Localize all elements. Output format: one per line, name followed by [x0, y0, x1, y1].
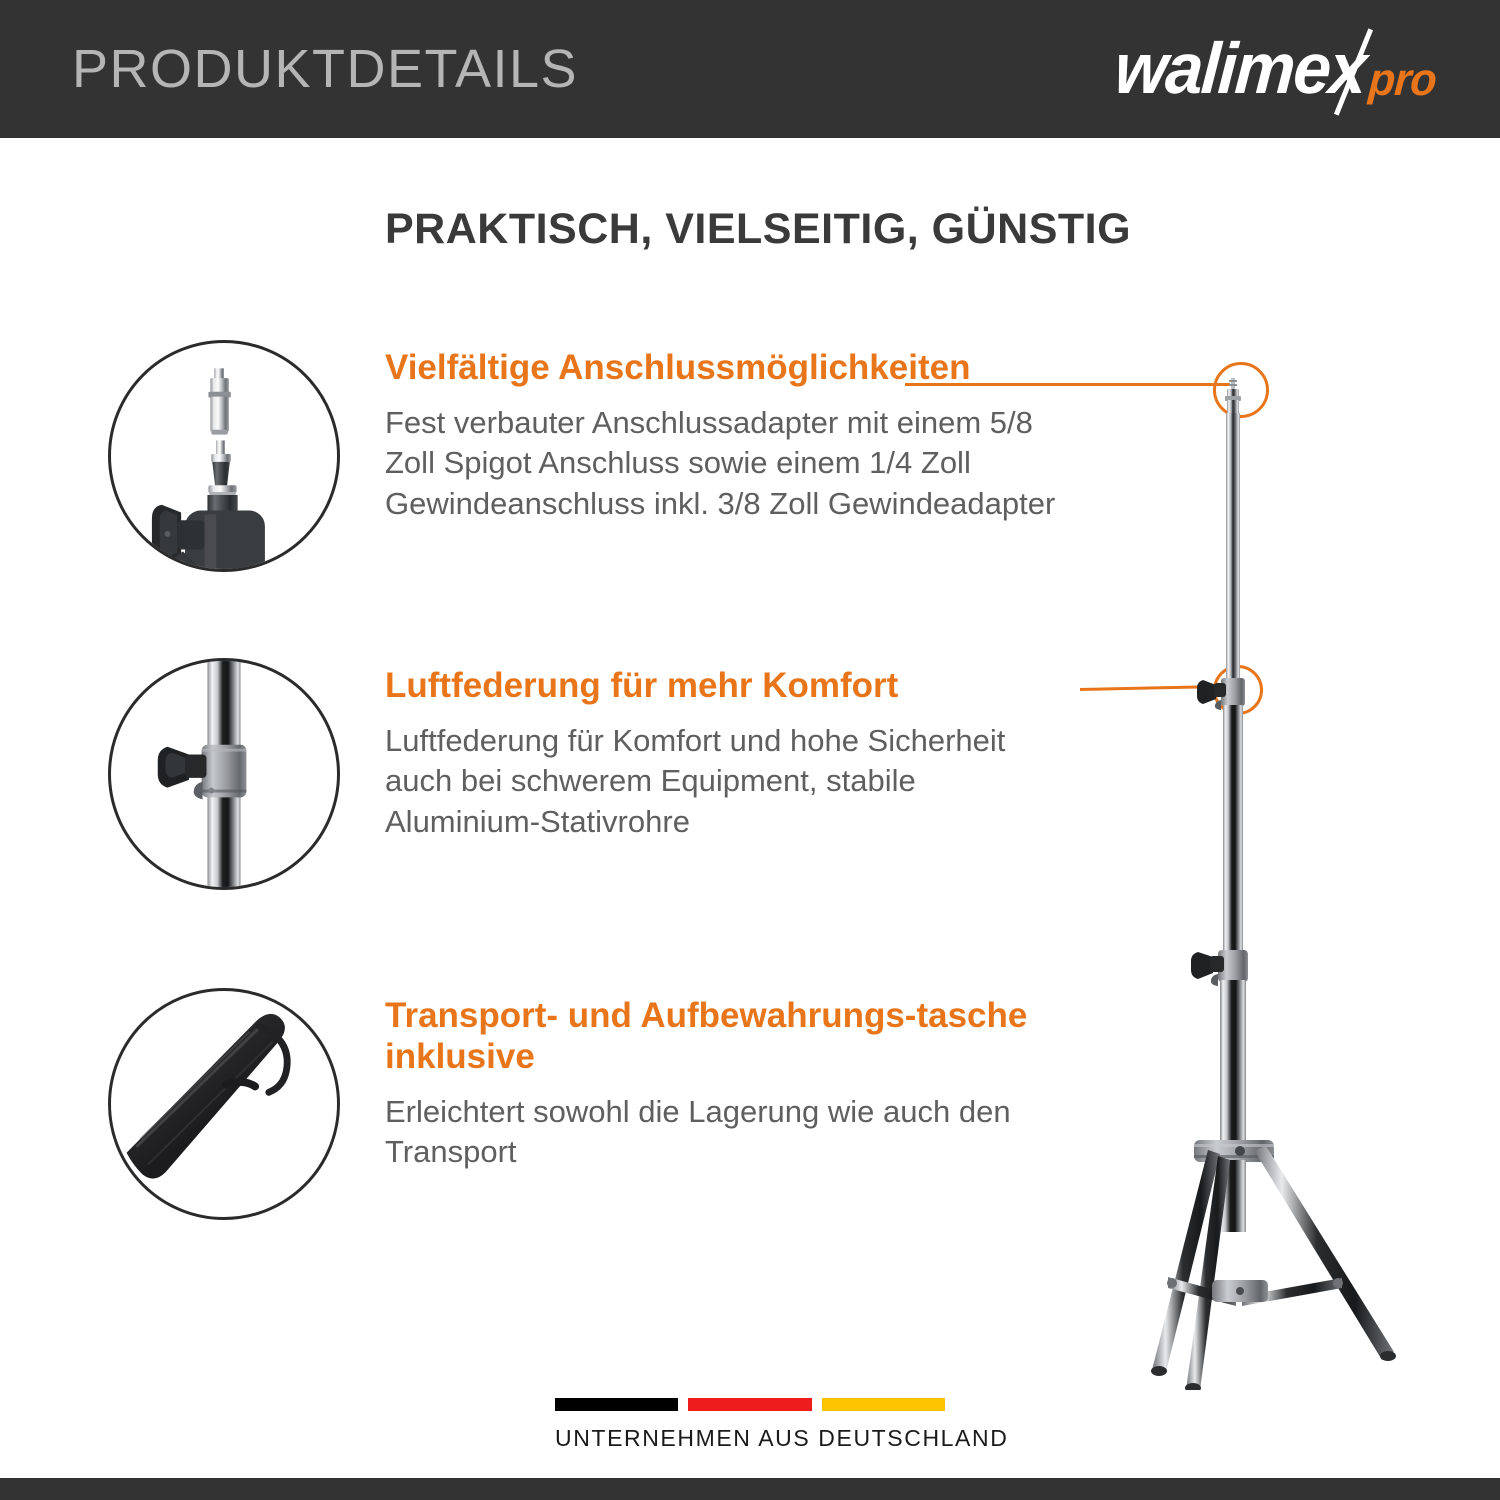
flag-bar-black [555, 1398, 678, 1411]
carrying-bag-photo [111, 991, 337, 1217]
walimex-pro-logo: walimex pro [1098, 24, 1438, 114]
page-title: PRODUKTDETAILS [72, 42, 578, 96]
feature-description: Fest verbauter Anschlussadapter mit eine… [385, 403, 1075, 524]
feature-text-carrying-bag: Transport- und Aufbewahrungs-tasche inkl… [385, 988, 1075, 1220]
feature-title: Transport- und Aufbewahrungs-tasche inkl… [385, 996, 1075, 1078]
feature-description: Luftfederung für Komfort und hohe Sicher… [385, 721, 1075, 842]
feature-block-connections: Vielfältige Anschlussmöglichkeiten Fest … [108, 340, 1075, 572]
footer-origin-text: UNTERNEHMEN AUS DEUTSCHLAND [555, 1425, 945, 1452]
feature-text-air-cushion: Luftfederung für mehr Komfort Luftfederu… [385, 658, 1075, 890]
tripod-illustration [1090, 360, 1450, 1390]
flag-bar-red [688, 1398, 811, 1411]
tripod-foot-right [1380, 1351, 1396, 1361]
spigot-adapter-icon [108, 340, 340, 572]
air-cushion-collar-photo [111, 661, 337, 887]
air-cushion-icon [108, 658, 340, 890]
feature-title: Luftfederung für mehr Komfort [385, 666, 1075, 707]
section-headline: PRAKTISCH, VIELSEITIG, GÜNSTIG [385, 205, 1131, 254]
tripod-leg-right [1254, 1146, 1394, 1360]
feature-block-carrying-bag: Transport- und Aufbewahrungs-tasche inkl… [108, 988, 1075, 1220]
german-flag-bars [555, 1398, 945, 1411]
logo-suffix-text: pro [1367, 56, 1437, 102]
tripod-cross-braces [1167, 1277, 1343, 1306]
tripod-lower-column [1220, 980, 1246, 1158]
product-details-page: PRODUKTDETAILS walimex pro PRAKTISCH, VI… [0, 0, 1500, 1500]
light-stand-tripod-image [1090, 360, 1450, 1390]
page-header: PRODUKTDETAILS walimex pro [0, 0, 1500, 138]
feature-block-air-cushion: Luftfederung für mehr Komfort Luftfederu… [108, 658, 1075, 890]
tripod-upper-column [1226, 413, 1240, 681]
feature-text-connections: Vielfältige Anschlussmöglichkeiten Fest … [385, 340, 1075, 572]
tripod-middle-column [1223, 705, 1243, 953]
logo-brand-text: walimex [1112, 33, 1367, 105]
spigot-adapter-photo [111, 343, 337, 569]
spigot-top-mount [1225, 378, 1241, 414]
carrying-bag-icon [108, 988, 340, 1220]
tripod-foot-left [1151, 1366, 1167, 1376]
footer-bar [0, 1478, 1500, 1500]
flag-bar-gold [822, 1398, 945, 1411]
feature-description: Erleichtert sowohl die Lagerung wie auch… [385, 1092, 1075, 1173]
